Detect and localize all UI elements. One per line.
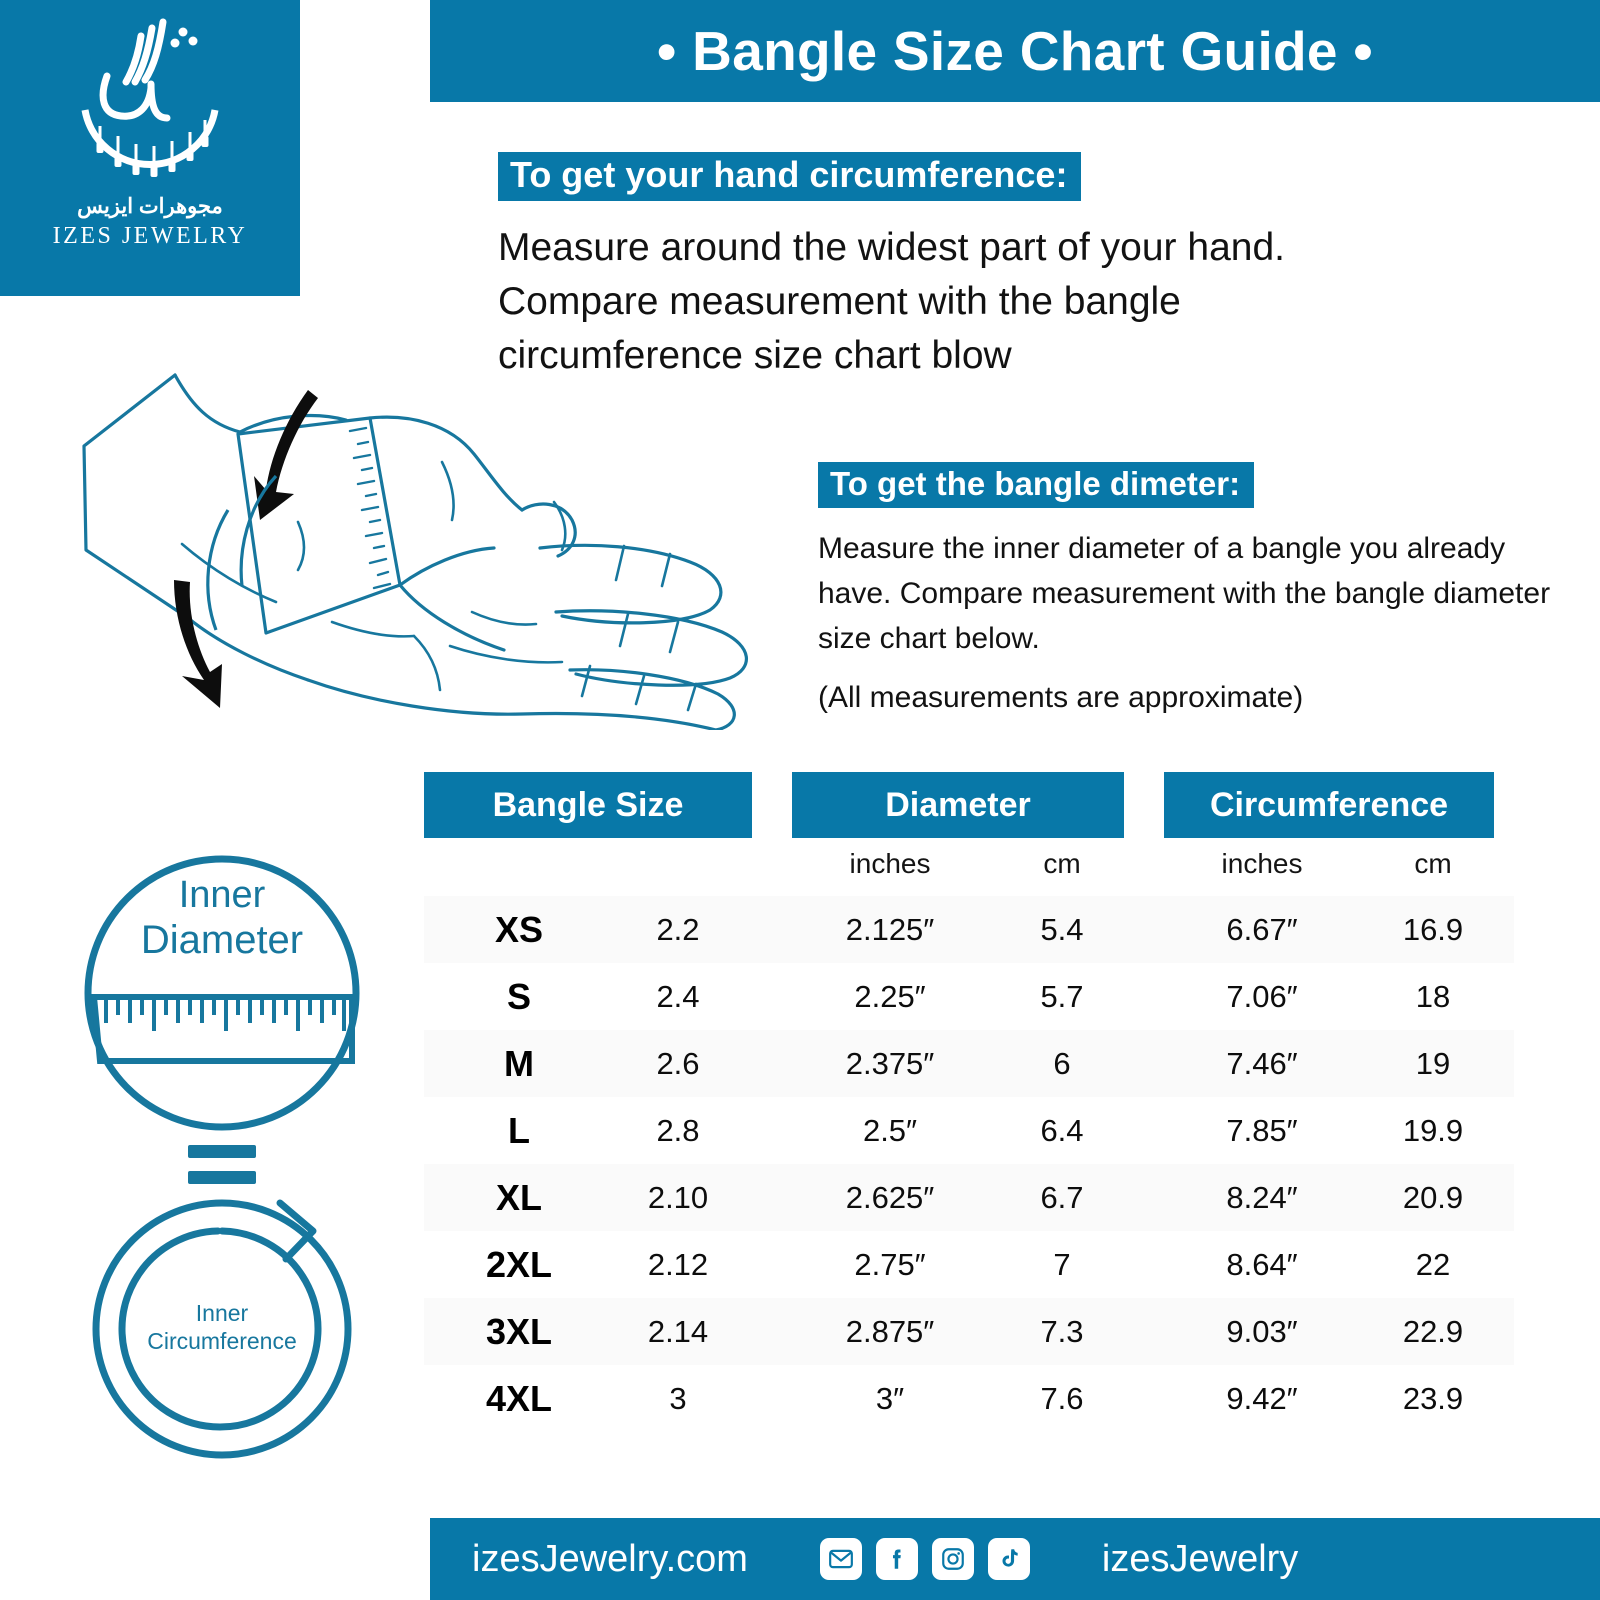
subheader-circumference-inches: inches [1164, 848, 1360, 880]
cell-dia_in: 2.375″ [792, 1030, 988, 1097]
cell-dia_cm: 5.4 [1000, 896, 1124, 963]
table-row: 4XL33″7.69.42″23.9 [424, 1365, 1514, 1432]
bangle-diameter-section: To get the bangle dimeter: Measure the i… [818, 462, 1558, 715]
header-circumference: Circumference [1164, 772, 1494, 838]
hand-measuring-illustration [70, 350, 790, 730]
cell-dia_in: 2.25″ [792, 963, 988, 1030]
inner-circumference-label-line2: Circumference [147, 1328, 297, 1354]
brand-logo-block: مجوهرات ايزيس IZES JEWELRY [0, 0, 300, 296]
table-row: M2.62.375″67.46″19 [424, 1030, 1514, 1097]
cell-dia_cm: 5.7 [1000, 963, 1124, 1030]
cell-num: 2.6 [604, 1030, 752, 1097]
cell-cir_in: 7.85″ [1164, 1097, 1360, 1164]
table-row: XS2.22.125″5.46.67″16.9 [424, 896, 1514, 963]
cell-num: 3 [604, 1365, 752, 1432]
cell-num: 2.4 [604, 963, 752, 1030]
table-body: XS2.22.125″5.46.67″16.9S2.42.25″5.77.06″… [424, 896, 1514, 1432]
bangle-diameter-body: Measure the inner diameter of a bangle y… [818, 526, 1558, 661]
cell-dia_in: 2.5″ [792, 1097, 988, 1164]
inner-diameter-label-line2: Diameter [141, 918, 303, 962]
cell-num: 2.2 [604, 896, 752, 963]
table-row: S2.42.25″5.77.06″18 [424, 963, 1514, 1030]
table-row: XL2.102.625″6.78.24″20.9 [424, 1164, 1514, 1231]
cell-num: 2.8 [604, 1097, 752, 1164]
logo-calligraphy-icon [55, 14, 245, 194]
cell-dia_cm: 6 [1000, 1030, 1124, 1097]
cell-size: S [444, 963, 594, 1030]
table-row: 3XL2.142.875″7.39.03″22.9 [424, 1298, 1514, 1365]
cell-num: 2.14 [604, 1298, 752, 1365]
cell-dia_in: 3″ [792, 1365, 988, 1432]
cell-size: 3XL [444, 1298, 594, 1365]
diameter-circumference-diagram: Inner Diameter Inner Circumference [70, 845, 380, 1465]
hand-circumference-section: To get your hand circumference: Measure … [498, 152, 1418, 382]
cell-size: L [444, 1097, 594, 1164]
cell-num: 2.10 [604, 1164, 752, 1231]
cell-dia_cm: 7.6 [1000, 1365, 1124, 1432]
cell-cir_cm: 19 [1372, 1030, 1494, 1097]
email-icon[interactable] [820, 1538, 862, 1580]
cell-size: XS [444, 896, 594, 963]
cell-cir_in: 7.06″ [1164, 963, 1360, 1030]
page-title: • Bangle Size Chart Guide • [657, 19, 1373, 83]
cell-cir_cm: 16.9 [1372, 896, 1494, 963]
cell-dia_cm: 6.7 [1000, 1164, 1124, 1231]
cell-size: XL [444, 1164, 594, 1231]
logo-english-text: IZES JEWELRY [53, 224, 248, 248]
subheader-diameter-cm: cm [1000, 848, 1124, 880]
cell-cir_in: 8.24″ [1164, 1164, 1360, 1231]
cell-dia_in: 2.625″ [792, 1164, 988, 1231]
cell-cir_cm: 18 [1372, 963, 1494, 1030]
footer-handle[interactable]: izesJewelry [1102, 1538, 1298, 1581]
table-group-header-row: Bangle Size Diameter Circumference [424, 772, 1514, 838]
cell-dia_in: 2.125″ [792, 896, 988, 963]
cell-size: 4XL [444, 1365, 594, 1432]
bangle-diameter-heading: To get the bangle dimeter: [818, 462, 1254, 508]
inner-diameter-label-line1: Inner [179, 874, 266, 916]
cell-size: M [444, 1030, 594, 1097]
hand-circumference-heading: To get your hand circumference: [498, 152, 1081, 201]
logo-arabic-text: مجوهرات ايزيس [77, 196, 223, 217]
cell-cir_in: 9.42″ [1164, 1365, 1360, 1432]
footer-social-icons [820, 1538, 1030, 1580]
cell-cir_in: 7.46″ [1164, 1030, 1360, 1097]
cell-cir_in: 9.03″ [1164, 1298, 1360, 1365]
cell-dia_cm: 7 [1000, 1231, 1124, 1298]
table-sub-header-row: inches cm inches cm [424, 838, 1514, 896]
page-title-bar: • Bangle Size Chart Guide • [430, 0, 1600, 102]
cell-size: 2XL [444, 1231, 594, 1298]
cell-num: 2.12 [604, 1231, 752, 1298]
approximate-note: (All measurements are approximate) [818, 681, 1558, 715]
tiktok-icon[interactable] [988, 1538, 1030, 1580]
cell-cir_cm: 22.9 [1372, 1298, 1494, 1365]
cell-cir_cm: 20.9 [1372, 1164, 1494, 1231]
cell-cir_cm: 22 [1372, 1231, 1494, 1298]
footer-website[interactable]: izesJewelry.com [472, 1538, 748, 1581]
cell-dia_in: 2.75″ [792, 1231, 988, 1298]
cell-cir_in: 6.67″ [1164, 896, 1360, 963]
cell-dia_cm: 7.3 [1000, 1298, 1124, 1365]
cell-dia_in: 2.875″ [792, 1298, 988, 1365]
infographic-page: مجوهرات ايزيس IZES JEWELRY • Bangle Size… [0, 0, 1600, 1600]
subheader-diameter-inches: inches [792, 848, 988, 880]
cell-cir_cm: 19.9 [1372, 1097, 1494, 1164]
cell-dia_cm: 6.4 [1000, 1097, 1124, 1164]
cell-cir_in: 8.64″ [1164, 1231, 1360, 1298]
footer-bar: izesJewelry.com [430, 1518, 1600, 1600]
inner-circumference-label-line1: Inner [196, 1300, 249, 1326]
table-row: 2XL2.122.75″78.64″22 [424, 1231, 1514, 1298]
subheader-circumference-cm: cm [1372, 848, 1494, 880]
header-diameter: Diameter [792, 772, 1124, 838]
header-bangle-size: Bangle Size [424, 772, 752, 838]
table-row: L2.82.5″6.47.85″19.9 [424, 1097, 1514, 1164]
facebook-icon[interactable] [876, 1538, 918, 1580]
instagram-icon[interactable] [932, 1538, 974, 1580]
cell-cir_cm: 23.9 [1372, 1365, 1494, 1432]
bangle-size-table: Bangle Size Diameter Circumference inche… [424, 772, 1514, 1432]
